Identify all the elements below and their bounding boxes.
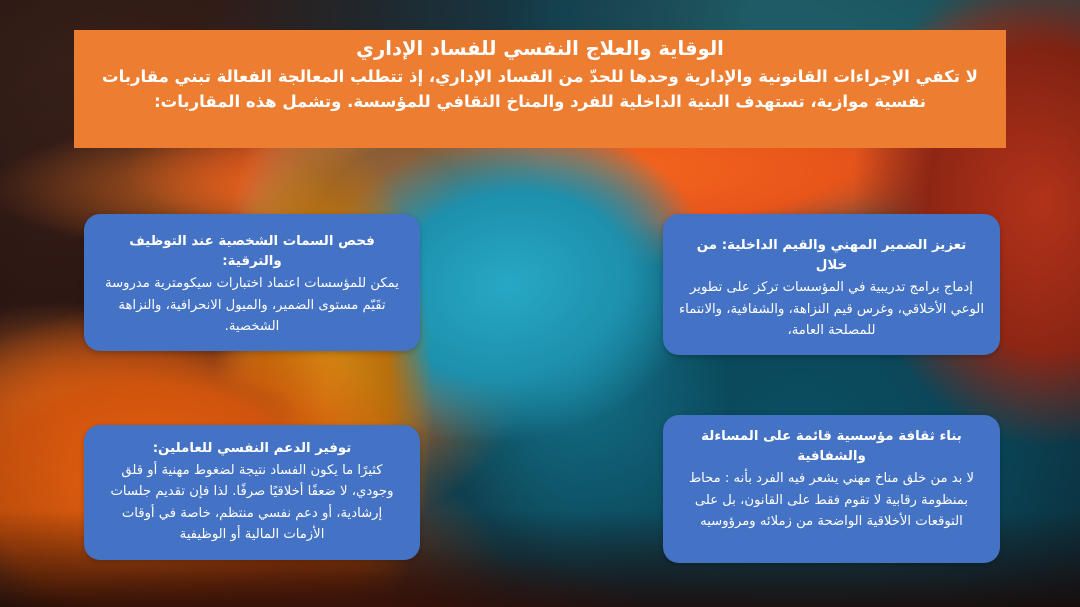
card-accountability-culture[interactable]: بناء ثقافة مؤسسية قائمة على المساءلة وال… xyxy=(663,415,1000,563)
card-psychological-support-body: كثيرًا ما يكون الفساد نتيجة لضغوط مهنية … xyxy=(100,460,404,546)
presentation-slide: الوقاية والعلاج النفسي للفساد الإداري لا… xyxy=(0,0,1080,607)
card-accountability-culture-heading: بناء ثقافة مؤسسية قائمة على المساءلة وال… xyxy=(679,427,984,467)
card-psychological-support-heading: توفير الدعم النفسي للعاملين: xyxy=(100,439,404,459)
card-professional-conscience-heading: تعزيز الضمير المهني والقيم الداخلية: من … xyxy=(679,236,984,276)
card-accountability-culture-body: لا بد من خلق مناخ مهني يشعر فيه الفرد بأ… xyxy=(679,468,984,532)
card-personality-traits-heading: فحص السمات الشخصية عند التوظيف والترقية: xyxy=(100,232,404,272)
card-professional-conscience[interactable]: تعزيز الضمير المهني والقيم الداخلية: من … xyxy=(663,214,1000,355)
card-professional-conscience-body: إدماج برامج تدريبية في المؤسسات تركز على… xyxy=(679,277,984,341)
card-personality-traits[interactable]: فحص السمات الشخصية عند التوظيف والترقية:… xyxy=(84,214,420,351)
card-personality-traits-body: يمكن للمؤسسات اعتماد اختبارات سيكومترية … xyxy=(100,273,404,337)
slide-subtitle: لا تكفي الإجراءات القانونية والإدارية وح… xyxy=(88,64,992,114)
card-psychological-support[interactable]: توفير الدعم النفسي للعاملين: كثيرًا ما ي… xyxy=(84,425,420,560)
slide-title: الوقاية والعلاج النفسي للفساد الإداري xyxy=(356,36,724,62)
header-banner: الوقاية والعلاج النفسي للفساد الإداري لا… xyxy=(74,30,1006,148)
